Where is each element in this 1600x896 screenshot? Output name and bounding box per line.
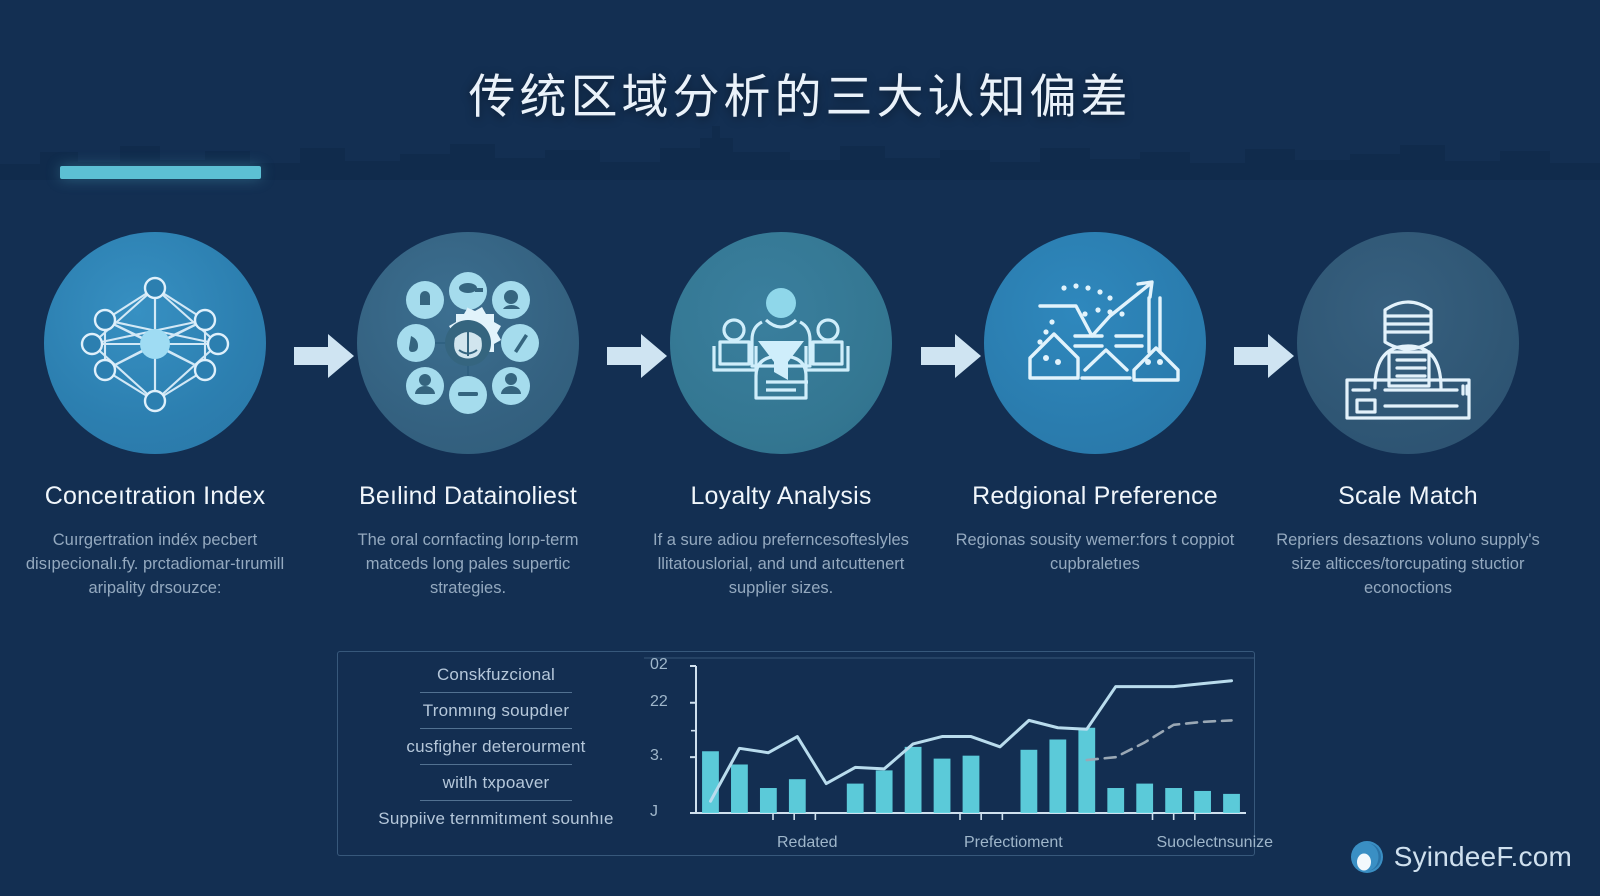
legend-divider bbox=[420, 800, 572, 801]
x-axis-tick-label: Prefectioment bbox=[964, 834, 1063, 852]
page-title: 传统区域分析的三大认知偏差 bbox=[0, 58, 1600, 127]
y-axis-tick-label: 22 bbox=[650, 693, 668, 711]
legend-line: Suppiive ternmitıment sounhıe bbox=[346, 808, 646, 829]
step-icon-circle-3 bbox=[670, 232, 892, 454]
x-axis-tick-label: Redated bbox=[777, 834, 838, 852]
step-regional-preference[interactable]: Redgional Preference Regionas sousity we… bbox=[945, 232, 1245, 576]
bottom-summary-panel: Conskfuzcional Tronmıng soupdıer cusfigh… bbox=[337, 651, 1255, 856]
accent-bar bbox=[60, 166, 261, 179]
chart-plot-svg bbox=[644, 652, 1254, 855]
people-funnel-icon bbox=[696, 258, 866, 428]
person-at-desk-form-icon bbox=[1323, 258, 1493, 428]
step-title: Conceıtration Index bbox=[5, 482, 305, 511]
step-scale-match[interactable]: Scale Match Repriers desaztıons voluno s… bbox=[1258, 232, 1558, 600]
legend-line: Conskfuzcional bbox=[346, 664, 646, 685]
step-icon-circle-4 bbox=[984, 232, 1206, 454]
step-description: If a sure adiou preferncesofteslyles lli… bbox=[631, 528, 931, 600]
infographic-canvas: 传统区域分析的三大认知偏差 bbox=[0, 0, 1600, 896]
step-icon-circle-5 bbox=[1297, 232, 1519, 454]
step-description: The oral cornfacting lorıp-term matceds … bbox=[318, 528, 618, 600]
network-center-node bbox=[140, 329, 170, 359]
combo-chart: 02223.JRedatedPrefectiomentSuoclectnsuni… bbox=[644, 652, 1254, 855]
step-icon-circle-2 bbox=[357, 232, 579, 454]
legend-line: Tronmıng soupdıer bbox=[346, 700, 646, 721]
legend-line: cusfigher deterourment bbox=[346, 736, 646, 757]
legend-divider bbox=[420, 728, 572, 729]
step-loyalty-analysis[interactable]: Loyalty Analysis If a sure adiou prefern… bbox=[631, 232, 931, 600]
syindee-circle-logo-icon bbox=[1350, 840, 1384, 874]
step-title: Beılind Datainoliest bbox=[318, 482, 618, 511]
legend-divider bbox=[420, 692, 572, 693]
step-icon-circle-1 bbox=[44, 232, 266, 454]
logo-text: SyindeeF.com bbox=[1394, 841, 1572, 873]
center-gear-icon bbox=[445, 307, 501, 366]
legend-text-list: Conskfuzcional Tronmıng soupdıer cusfigh… bbox=[346, 658, 646, 860]
legend-line: witlh txpoaver bbox=[346, 772, 646, 793]
y-axis-tick-label: 02 bbox=[650, 656, 668, 674]
y-axis-tick-label: J bbox=[650, 803, 658, 821]
step-title: Scale Match bbox=[1258, 482, 1558, 511]
y-axis-tick-label: 3. bbox=[650, 747, 663, 765]
step-description: Regionas sousity wemer:fors t coppiot cu… bbox=[945, 528, 1245, 576]
growth-chart-arrow-icon bbox=[1010, 258, 1180, 428]
step-blind-datainoliest[interactable]: Beılind Datainoliest The oral cornfactin… bbox=[318, 232, 618, 600]
step-concentration-index[interactable]: Conceıtration Index Cuırgertration indéx… bbox=[5, 232, 305, 600]
network-nodes-icon bbox=[70, 258, 240, 428]
x-axis-tick-label: Suoclectnsunize bbox=[1157, 834, 1274, 852]
gear-with-service-icons-icon bbox=[383, 258, 553, 428]
process-steps-row: Conceıtration Index Cuırgertration indéx… bbox=[0, 232, 1600, 632]
legend-divider bbox=[420, 764, 572, 765]
step-description: Cuırgertration indéx pecbert disıpeciona… bbox=[5, 528, 305, 600]
step-description: Repriers desaztıons voluno supply's size… bbox=[1258, 528, 1558, 600]
step-title: Redgional Preference bbox=[945, 482, 1245, 511]
step-title: Loyalty Analysis bbox=[631, 482, 931, 511]
site-logo[interactable]: SyindeeF.com bbox=[1350, 840, 1572, 874]
